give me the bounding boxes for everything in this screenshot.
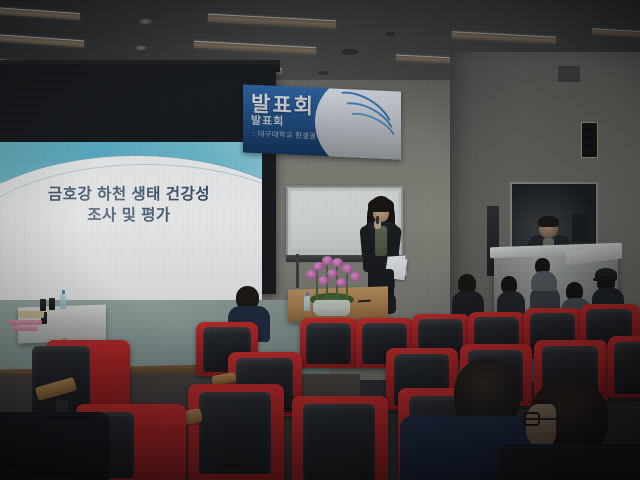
ceiling-vent	[342, 49, 358, 55]
presenter-hair-front	[368, 198, 394, 212]
orchid-bloom	[306, 270, 317, 279]
wall-speaker-icon	[581, 122, 598, 158]
pink-folder	[12, 326, 38, 331]
auditorium-seat[interactable]	[292, 396, 388, 480]
slide-title: 금호강 하천 생태 건강성 조사 및 평가	[0, 184, 262, 226]
pink-folder	[8, 320, 42, 325]
microphone-icon	[376, 216, 379, 224]
table-papers	[18, 311, 44, 318]
seat-pad	[614, 342, 640, 394]
orchid-bloom	[342, 264, 353, 273]
event-banner: 발표회 발표회 : 대구대학교 환경공학과	[243, 84, 401, 159]
person-torso	[531, 271, 557, 291]
auditorium-seat[interactable]	[188, 384, 284, 480]
ceiling-downlight	[138, 18, 153, 25]
person-face	[526, 404, 556, 448]
person-torso	[498, 444, 640, 480]
ceiling-downlight	[134, 45, 148, 51]
orchid-bloom	[332, 258, 343, 267]
beverage-can	[40, 299, 46, 311]
wall-panel	[558, 66, 580, 82]
lecture-hall-photo: 금호강 하천 생태 건강성 조사 및 평가 대구대학교 발표회 발표회 : 대구…	[0, 0, 640, 480]
seat-pad	[306, 323, 351, 364]
person-torso	[0, 412, 110, 480]
orchid-bloom	[318, 276, 329, 285]
ceiling-vent	[318, 71, 328, 75]
glasses-lens-icon	[523, 412, 540, 426]
alcove-equipment-box	[572, 214, 589, 242]
orchid-bloom	[336, 278, 347, 287]
banner-shading	[243, 84, 401, 159]
slide-title-line-2: 조사 및 평가	[0, 205, 262, 226]
auditorium-seat[interactable]	[300, 318, 358, 368]
beverage-can	[49, 298, 55, 310]
slide-title-line-1: 금호강 하천 생태 건강성	[0, 184, 262, 205]
orchid-pot	[314, 300, 350, 316]
water-bottle	[60, 294, 66, 309]
orchid-bloom	[350, 272, 361, 281]
projector-screen-frame: 금호강 하천 생태 건강성 조사 및 평가 대구대학교	[0, 66, 276, 294]
orchid-arrangement	[298, 254, 366, 316]
auditorium-seat[interactable]	[608, 336, 640, 398]
presenter-inner-top	[375, 226, 387, 256]
seat-pad	[199, 392, 271, 474]
orchid-bloom	[327, 269, 338, 278]
ceiling-vent	[386, 32, 395, 36]
moderator-hair	[538, 216, 559, 227]
seat-pad	[303, 404, 375, 480]
